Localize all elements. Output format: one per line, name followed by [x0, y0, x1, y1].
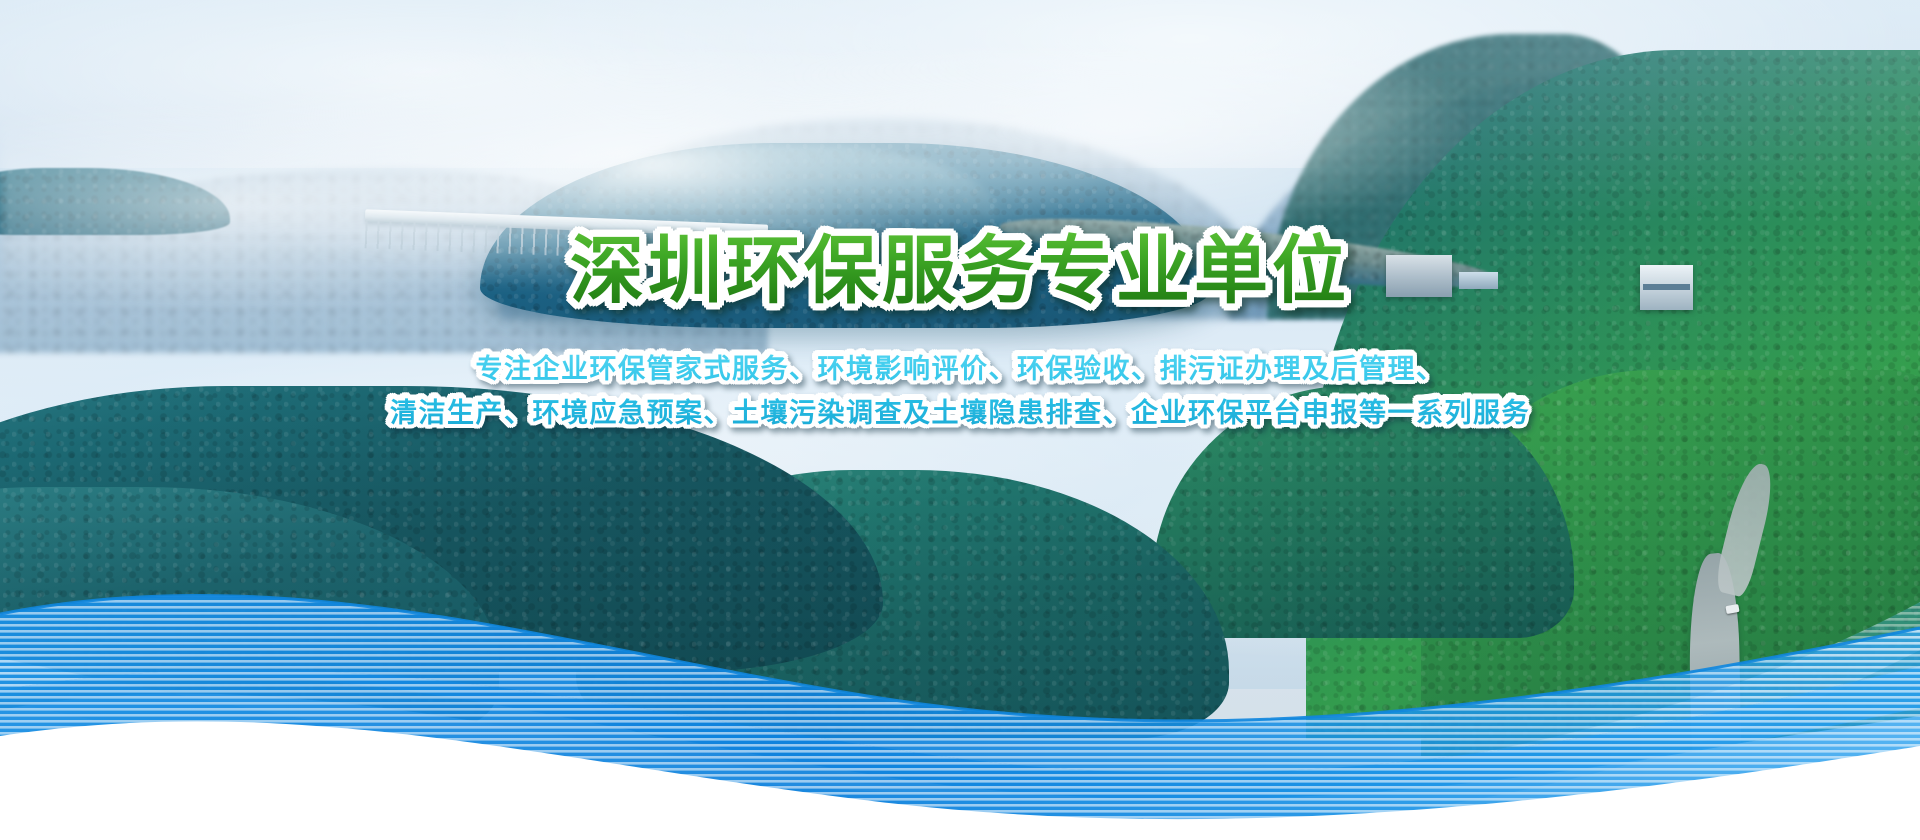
bottom-wave-ribbon	[0, 540, 1920, 840]
banner-title: 深圳环保服务专业单位	[564, 232, 1356, 310]
banner-subtitle: 专注企业环保管家式服务、环境影响评价、环保验收、排污证办理及后管理、 清洁生产、…	[0, 348, 1920, 435]
banner-subtitle-line-1: 专注企业环保管家式服务、环境影响评价、环保验收、排污证办理及后管理、	[0, 348, 1920, 392]
banner-copy: 深圳环保服务专业单位 专注企业环保管家式服务、环境影响评价、环保验收、排污证办理…	[0, 232, 1920, 436]
hero-banner: 深圳环保服务专业单位 专注企业环保管家式服务、环境影响评价、环保验收、排污证办理…	[0, 0, 1920, 840]
banner-subtitle-line-2: 清洁生产、环境应急预案、土壤污染调查及土壤隐患排查、企业环保平台申报等一系列服务	[0, 392, 1920, 436]
